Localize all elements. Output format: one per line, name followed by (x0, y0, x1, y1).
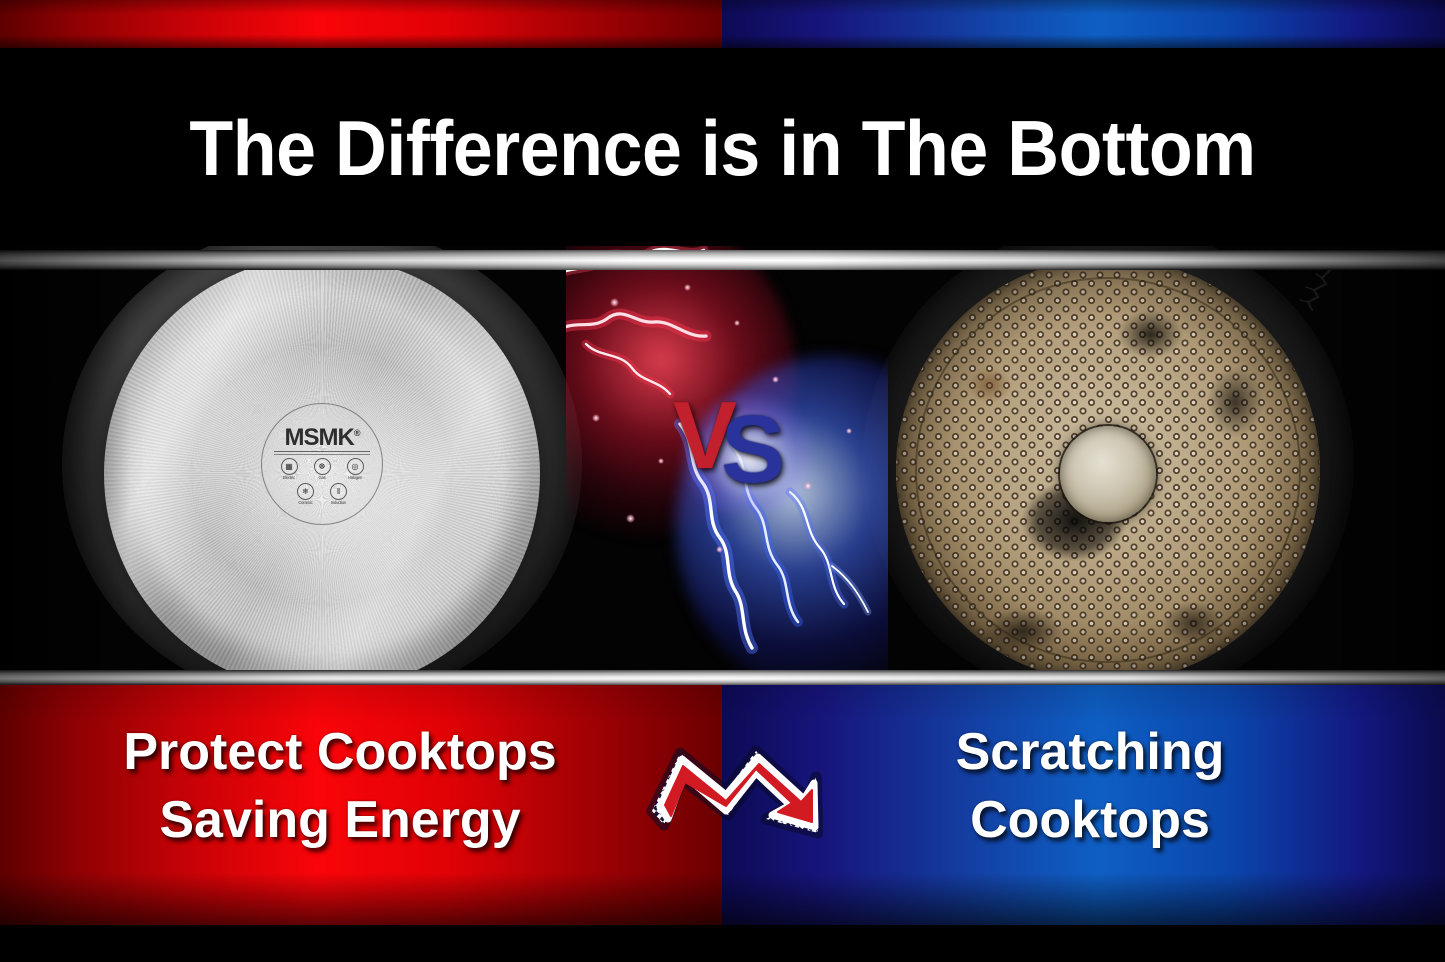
burnt-pan-center-disc (1060, 426, 1156, 522)
versus-letter-v: V (673, 382, 727, 489)
left-caption-line-1: Protect Cooktops (40, 718, 640, 786)
pan-bottom-stamp: MSMK® ▦ Electric ☸ Gas ◎ Halogen (260, 422, 384, 506)
promo-poster: The Difference is in The Bottom MSMK® ▦ … (0, 0, 1445, 962)
trademark-symbol: ® (354, 428, 360, 438)
stovetop-item-gas: ☸ Gas (309, 458, 335, 481)
right-caption: Scratching Cooktops (810, 718, 1370, 854)
stovetop-label-gas: Gas (309, 475, 335, 481)
top-band-red-half (0, 0, 722, 48)
stovetop-item-halogen: ◎ Halogen (342, 458, 368, 481)
spark-particle (684, 284, 691, 291)
page-title: The Difference is in The Bottom (58, 106, 1387, 190)
spark-particle (716, 546, 723, 553)
msmk-logo-text: MSMK (285, 424, 354, 451)
ceramic-icon: ❄ (297, 483, 314, 500)
top-band-blue-half (722, 0, 1445, 48)
comparison-photo-strip: MSMK® ▦ Electric ☸ Gas ◎ Halogen (0, 246, 1445, 685)
stovetop-label-ceramic: Ceramic (293, 500, 319, 506)
msmk-logo: MSMK® (285, 422, 360, 449)
logo-underline (274, 451, 370, 455)
stovetop-label-halogen: Halogen (342, 475, 368, 481)
left-caption-line-2: Saving Energy (40, 786, 640, 854)
stovetop-item-induction: ‖ Induction (326, 483, 352, 506)
burnt-pan-image (862, 248, 1354, 680)
versus-energy-zone: VS (566, 246, 888, 685)
stovetop-item-ceramic: ❄ Ceramic (293, 483, 319, 506)
right-caption-line-1: Scratching (810, 718, 1370, 786)
stovetop-icon-row-bottom: ❄ Ceramic ‖ Induction (260, 483, 384, 506)
spark-particle (772, 376, 779, 383)
crack-icon (1270, 264, 1340, 324)
spark-particle (610, 298, 619, 307)
spark-particle (734, 320, 740, 326)
stovetop-item-electric: ▦ Electric (276, 458, 302, 481)
zigzag-down-arrow-icon (638, 733, 823, 843)
stovetop-label-induction: Induction (326, 500, 352, 506)
bottom-chrome-rim-shading (0, 670, 1445, 685)
versus-label: VS (566, 388, 888, 484)
spark-particle (626, 514, 635, 523)
left-caption: Protect Cooktops Saving Energy (40, 718, 640, 854)
stovetop-label-electric: Electric (276, 475, 302, 481)
versus-letter-s: S (721, 396, 775, 503)
gas-icon: ☸ (314, 458, 331, 475)
stovetop-icon-row-top: ▦ Electric ☸ Gas ◎ Halogen (260, 458, 384, 481)
footer-black-strip (0, 925, 1445, 962)
top-chrome-rim-shading (0, 250, 1445, 270)
halogen-icon: ◎ (347, 458, 364, 475)
electric-icon: ▦ (281, 458, 298, 475)
clean-pan-image: MSMK® ▦ Electric ☸ Gas ◎ Halogen (62, 254, 582, 674)
top-color-band (0, 0, 1445, 48)
right-caption-line-2: Cooktops (810, 786, 1370, 854)
induction-icon: ‖ (330, 483, 347, 500)
burnt-pan-surface (896, 258, 1320, 682)
